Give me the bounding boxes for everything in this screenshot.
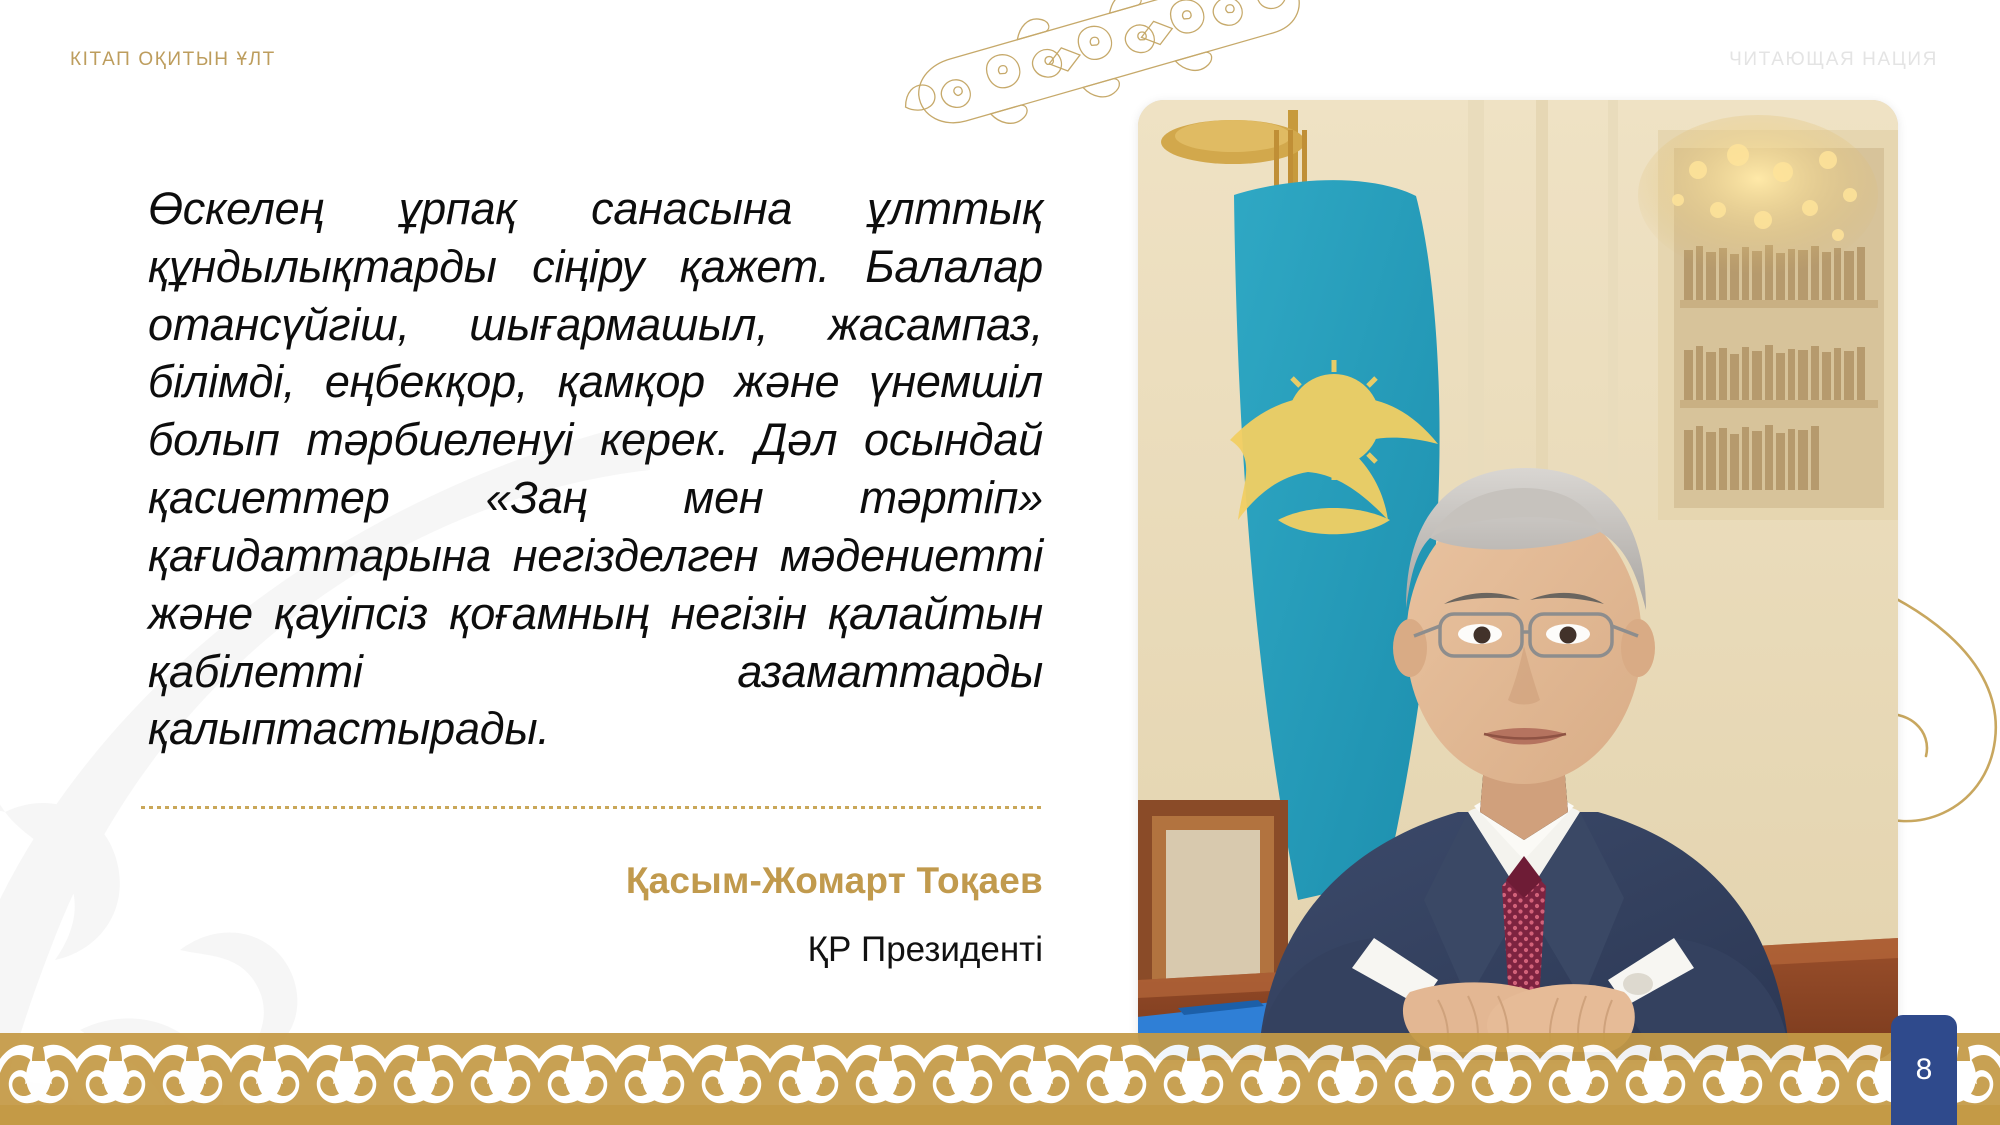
quote-text: Өскелең ұрпақ санасына ұлттық құндылықта… (148, 180, 1043, 816)
header-right-label: ЧИТАЮЩАЯ НАЦИЯ (1729, 49, 1938, 71)
page-number-value: 8 (1916, 1053, 1933, 1087)
header-left-label: КІТАП ОҚИТЫН ҰЛТ (70, 49, 276, 71)
author-role: ҚР Президенті (808, 930, 1043, 970)
author-name: Қасым-Жомарт Тоқаев (626, 860, 1043, 902)
page-number-badge: 8 (1891, 1015, 1957, 1125)
president-portrait-photo (1138, 100, 1898, 1060)
dotted-divider (141, 806, 1041, 809)
slide-root: КІТАП ОҚИТЫН ҰЛТ ЧИТАЮЩАЯ НАЦИЯ Өскелең … (0, 0, 2000, 1125)
